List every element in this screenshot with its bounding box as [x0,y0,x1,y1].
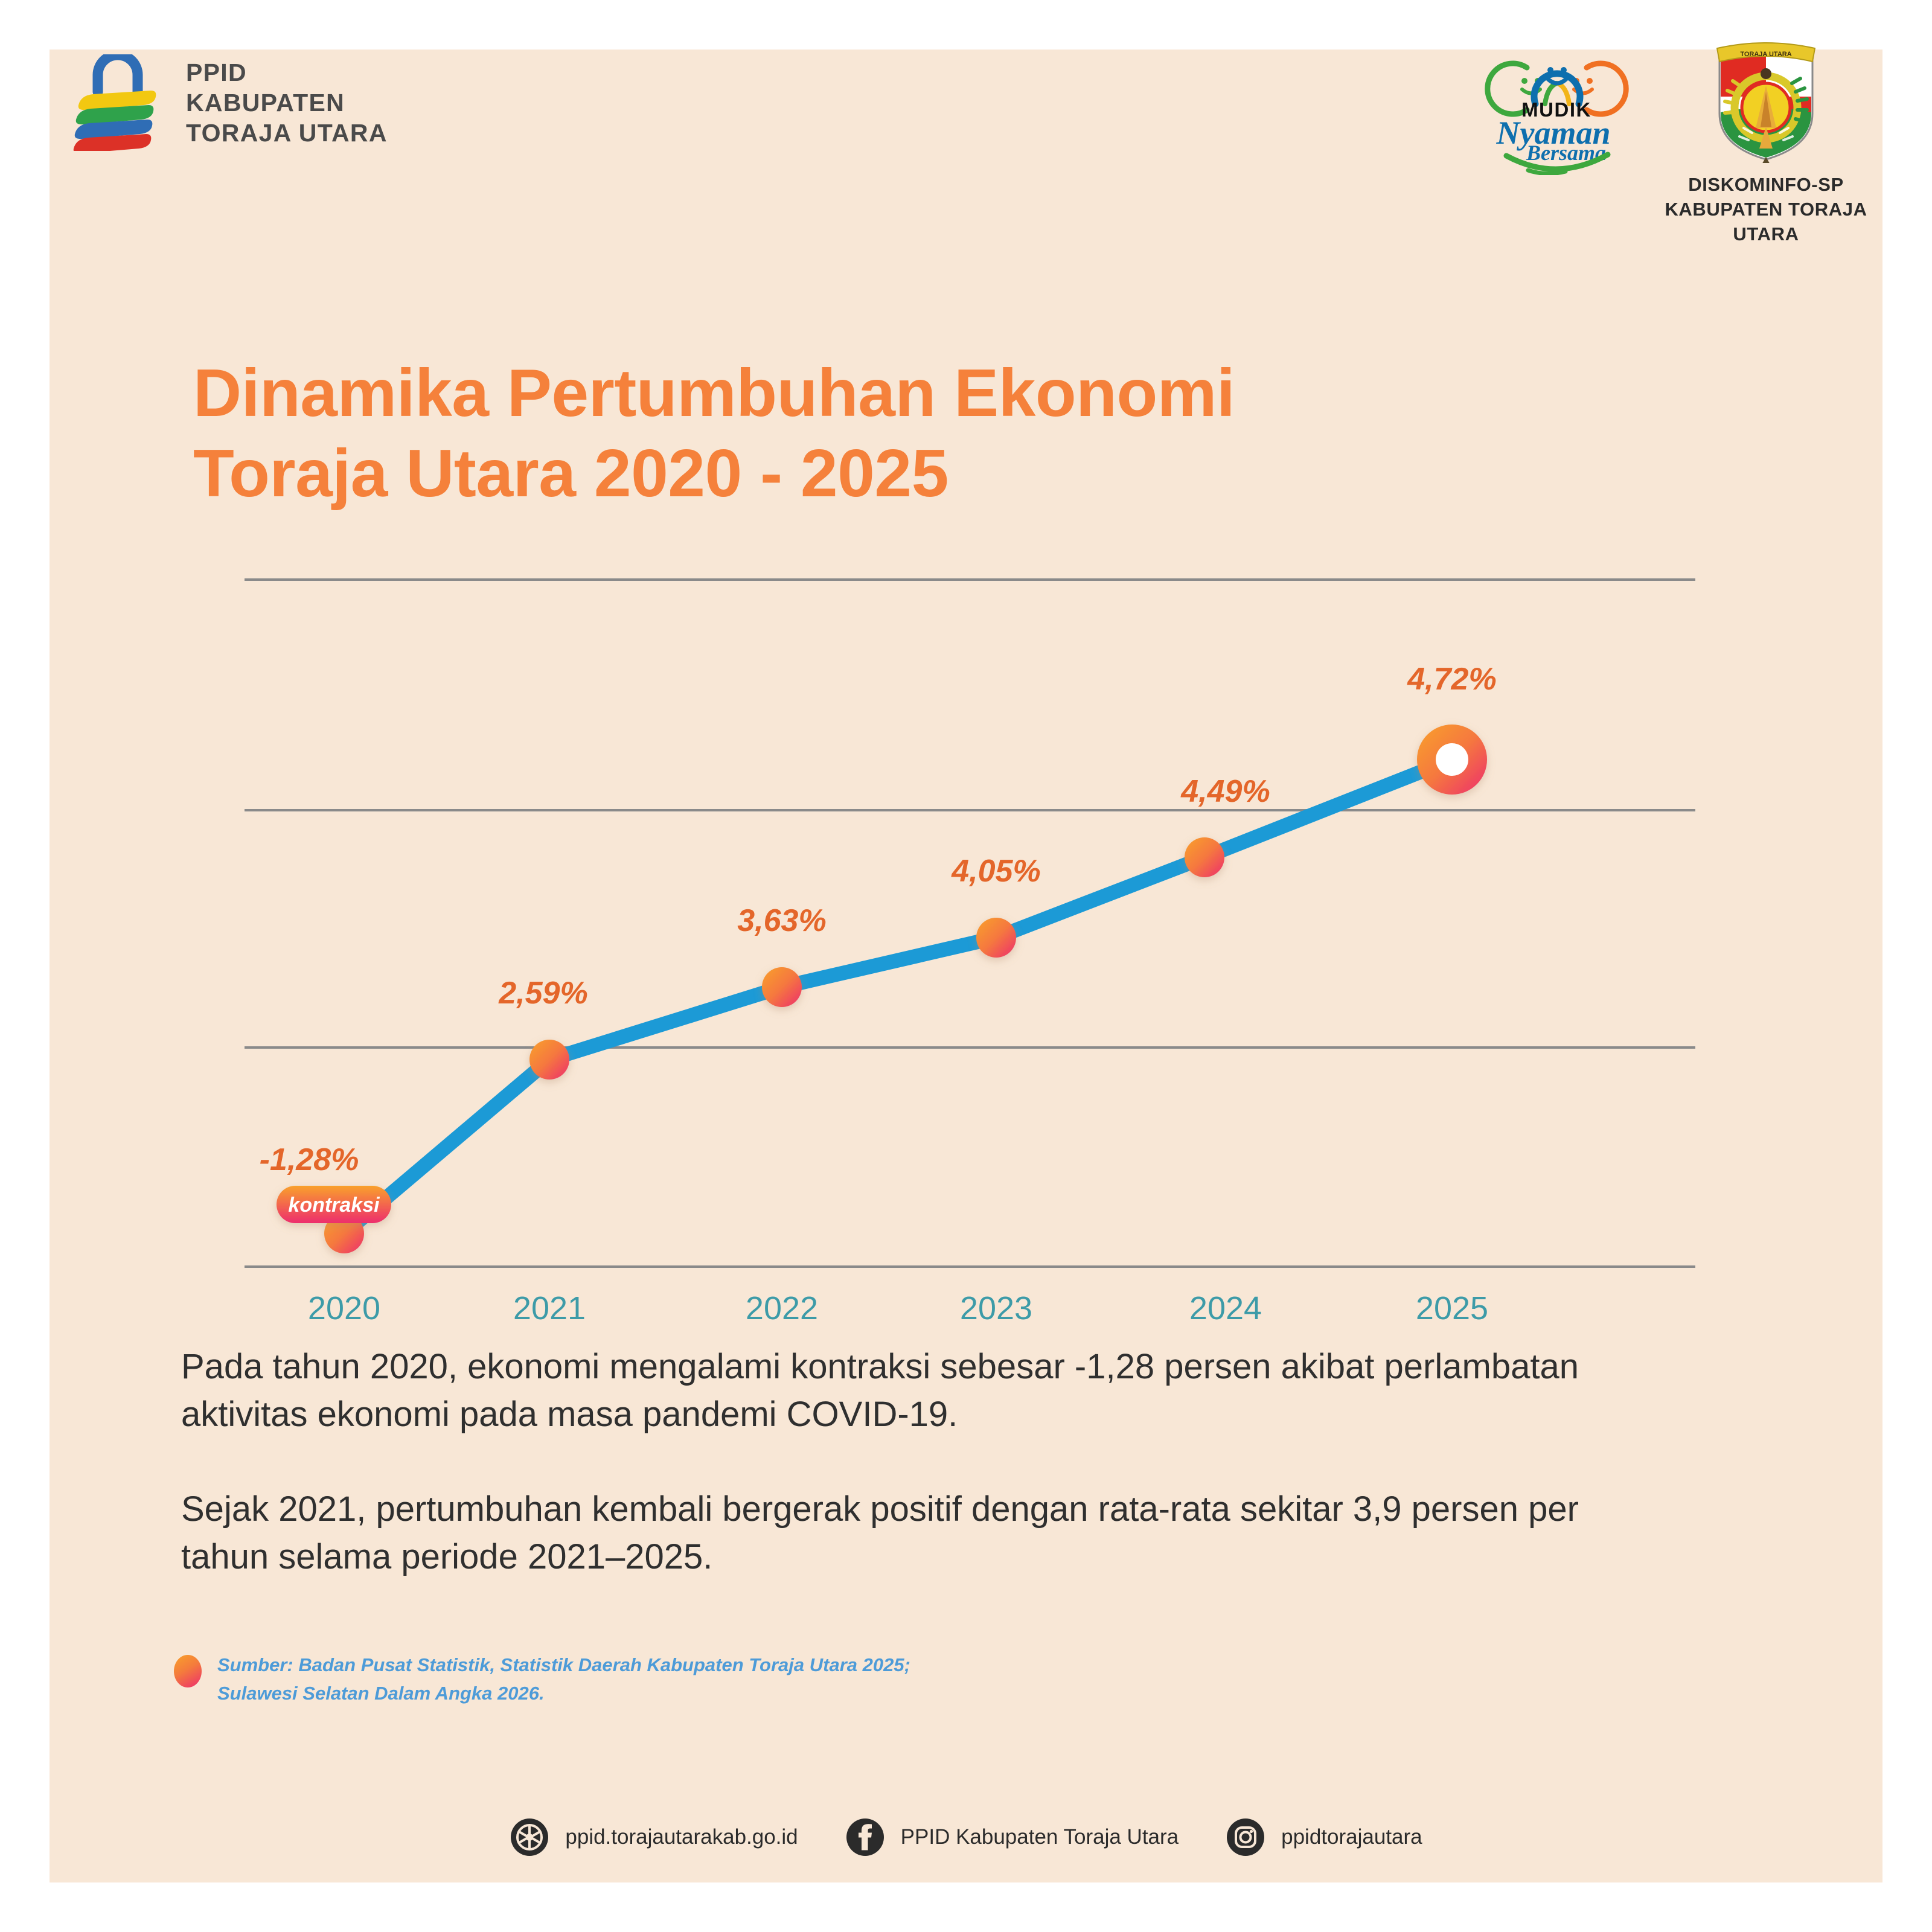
footer-social-bar: ppid.torajautarakab.go.id PPID Kabupaten… [0,1817,1932,1857]
dinas-line-1: DISKOMINFO-SP [1660,173,1872,197]
economic-growth-line-chart: -1,28% 2,59% 3,63% 4,05% 4,49% 4,72% kon… [0,531,1932,1352]
x-label-2021: 2021 [513,1290,586,1326]
page-title: Dinamika Pertumbuhan Ekonomi Toraja Utar… [193,353,1582,514]
source-line-2: Sulawesi Selatan Dalam Angka 2026. [217,1680,910,1708]
ppid-line-1: PPID [186,60,388,85]
kontraksi-badge: kontraksi [277,1186,391,1223]
footer-website-label: ppid.torajautarakab.go.id [565,1825,798,1849]
title-line-2: Toraja Utara 2020 - 2025 [193,436,948,511]
title-line-1: Dinamika Pertumbuhan Ekonomi [193,356,1235,430]
dinas-wordmark: DISKOMINFO-SP KABUPATEN TORAJA UTARA [1660,173,1872,247]
x-label-2022: 2022 [746,1290,818,1326]
value-label-2020: -1,28% [260,1142,359,1177]
value-label-2022: 3,63% [737,903,826,938]
mudik-smiley-icon: MUDIK Nyaman Bersama [1480,36,1634,175]
ppid-line-2: KABUPATEN [186,91,388,115]
value-label-2023: 4,05% [951,854,1040,889]
toraja-utara-coat-of-arms-icon: TORAJA UTARA [1709,36,1823,163]
footer-instagram-label: ppidtorajautara [1281,1825,1422,1849]
svg-text:TORAJA UTARA: TORAJA UTARA [1740,51,1791,58]
narrative-text: Pada tahun 2020, ekonomi mengalami kontr… [181,1343,1654,1628]
ppid-wordmark: PPID KABUPATEN TORAJA UTARA [186,60,388,146]
source-bullet-icon [174,1655,202,1687]
ppid-line-3: TORAJA UTARA [186,121,388,146]
x-label-2025: 2025 [1416,1290,1488,1326]
x-label-2020: 2020 [308,1290,380,1326]
narrative-paragraph-1: Pada tahun 2020, ekonomi mengalami kontr… [181,1343,1654,1439]
x-label-2023: 2023 [960,1290,1032,1326]
value-label-2024: 4,49% [1180,774,1270,809]
value-label-2021: 2,59% [498,976,587,1011]
value-label-2025: 4,72% [1407,662,1496,697]
narrative-paragraph-2: Sejak 2021, pertumbuhan kembali bergerak… [181,1486,1654,1581]
footer-facebook[interactable]: PPID Kabupaten Toraja Utara [845,1817,1179,1857]
instagram-icon [1226,1817,1265,1857]
svg-text:kontraksi: kontraksi [288,1194,380,1217]
source-line-1: Sumber: Badan Pusat Statistik, Statistik… [217,1651,910,1680]
infographic-canvas: PPID KABUPATEN TORAJA UTARA [0,0,1932,1932]
footer-instagram[interactable]: ppidtorajautara [1226,1817,1422,1857]
dinas-logo-block: TORAJA UTARA DISKOMINFO-SP KABUPATEN TOR… [1660,36,1872,247]
padlock-stack-icon [72,54,163,151]
dinas-line-2: KABUPATEN TORAJA UTARA [1660,197,1872,247]
source-citation: Sumber: Badan Pusat Statistik, Statistik… [174,1651,910,1707]
globe-icon [510,1817,549,1857]
x-label-2024: 2024 [1189,1290,1262,1326]
facebook-icon [845,1817,885,1857]
footer-website[interactable]: ppid.torajautarakab.go.id [510,1817,798,1857]
ppid-logo-block: PPID KABUPATEN TORAJA UTARA [72,54,388,151]
footer-facebook-label: PPID Kabupaten Toraja Utara [901,1825,1179,1849]
header-right-logos: MUDIK Nyaman Bersama [1480,36,1872,247]
